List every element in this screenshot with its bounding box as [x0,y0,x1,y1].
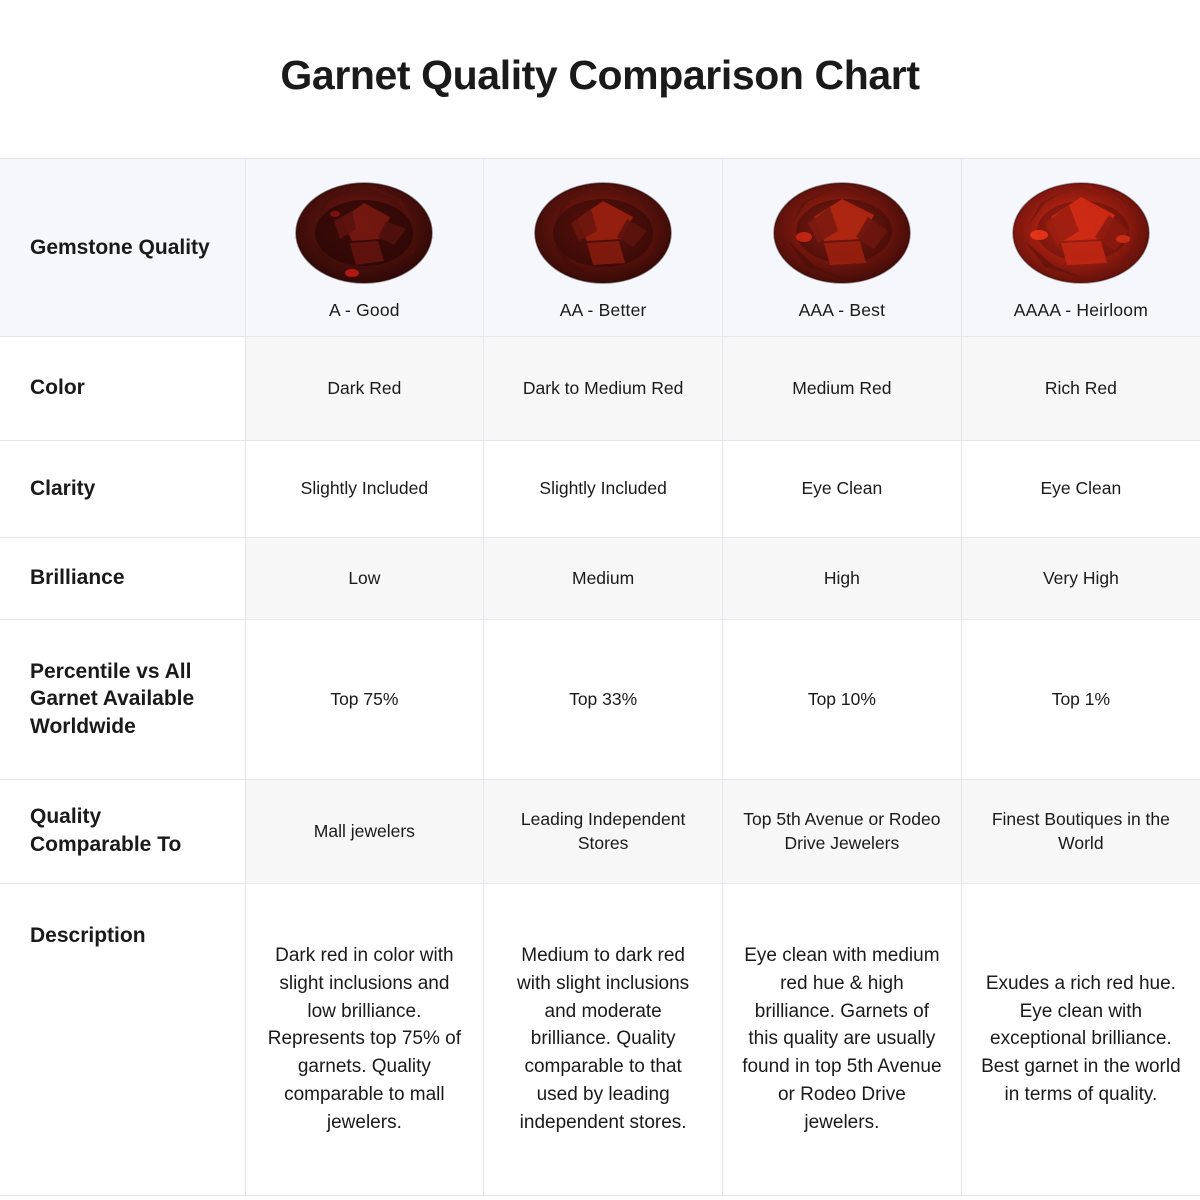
comparison-chart-page: Garnet Quality Comparison Chart Gemstone… [0,0,1200,1200]
cell-description-aaaa: Exudes a rich red hue. Eye clean with ex… [961,883,1200,1195]
cell-brilliance-aa: Medium [484,537,723,619]
cell-percentile-aaa: Top 10% [723,619,962,779]
cell-color-aaaa: Rich Red [961,336,1200,440]
garnet-quality-comparison-table: Gemstone Quality [0,159,1200,1196]
gem-cell-aaa: AAA - Best [723,159,962,336]
gem-caption-aaaa: AAAA - Heirloom [972,299,1190,322]
cell-brilliance-aaaa: Very High [961,537,1200,619]
cell-color-aaa: Medium Red [723,336,962,440]
cell-description-aaa: Eye clean with medium red hue & high bri… [723,883,962,1195]
cell-clarity-a: Slightly Included [245,440,484,537]
cell-percentile-aa: Top 33% [484,619,723,779]
table-row-clarity: Clarity Slightly Included Slightly Inclu… [0,440,1200,537]
cell-description-a: Dark red in color with slight inclusions… [245,883,484,1195]
cell-clarity-aa: Slightly Included [484,440,723,537]
row-label-quality-comparable-to: Quality Comparable To [0,779,245,883]
cell-brilliance-a: Low [245,537,484,619]
gem-cell-aa: AA - Better [484,159,723,336]
row-label-clarity: Clarity [0,440,245,537]
comparison-table-wrapper: Gemstone Quality [0,158,1200,1196]
row-label-description: Description [0,883,245,1195]
table-row-description: Description Dark red in color with sligh… [0,883,1200,1195]
row-label-text: Gemstone Quality [30,236,210,259]
cell-color-aa: Dark to Medium Red [484,336,723,440]
cell-description-aa: Medium to dark red with slight inclusion… [484,883,723,1195]
table-row-brilliance: Brilliance Low Medium High Very High [0,537,1200,619]
gem-caption-a: A - Good [256,299,474,322]
page-title: Garnet Quality Comparison Chart [0,0,1200,99]
cell-quality-comparable-aa: Leading Independent Stores [484,779,723,883]
cell-quality-comparable-a: Mall jewelers [245,779,484,883]
row-label-gemstone-quality: Gemstone Quality [0,159,245,336]
gem-caption-aaa: AAA - Best [733,299,951,322]
gem-cell-a: A - Good [245,159,484,336]
cell-quality-comparable-aaa: Top 5th Avenue or Rodeo Drive Jewelers [723,779,962,883]
cell-clarity-aaa: Eye Clean [723,440,962,537]
table-row-quality-comparable-to: Quality Comparable To Mall jewelers Lead… [0,779,1200,883]
table-row-color: Color Dark Red Dark to Medium Red Medium… [0,336,1200,440]
row-label-brilliance: Brilliance [0,537,245,619]
cell-clarity-aaaa: Eye Clean [961,440,1200,537]
garnet-oval-gem-icon [1011,181,1151,285]
cell-brilliance-aaa: High [723,537,962,619]
gem-cell-aaaa: AAAA - Heirloom [961,159,1200,336]
cell-quality-comparable-aaaa: Finest Boutiques in the World [961,779,1200,883]
table-row-percentile: Percentile vs All Garnet Available World… [0,619,1200,779]
table-row-gemstone-quality: Gemstone Quality [0,159,1200,336]
gem-caption-aa: AA - Better [494,299,712,322]
cell-percentile-aaaa: Top 1% [961,619,1200,779]
garnet-oval-gem-icon [533,181,673,285]
garnet-oval-gem-icon [772,181,912,285]
cell-percentile-a: Top 75% [245,619,484,779]
row-label-color: Color [0,336,245,440]
row-label-percentile: Percentile vs All Garnet Available World… [0,619,245,779]
cell-color-a: Dark Red [245,336,484,440]
row-label-text: Description [30,924,146,947]
garnet-oval-gem-icon [294,181,434,285]
